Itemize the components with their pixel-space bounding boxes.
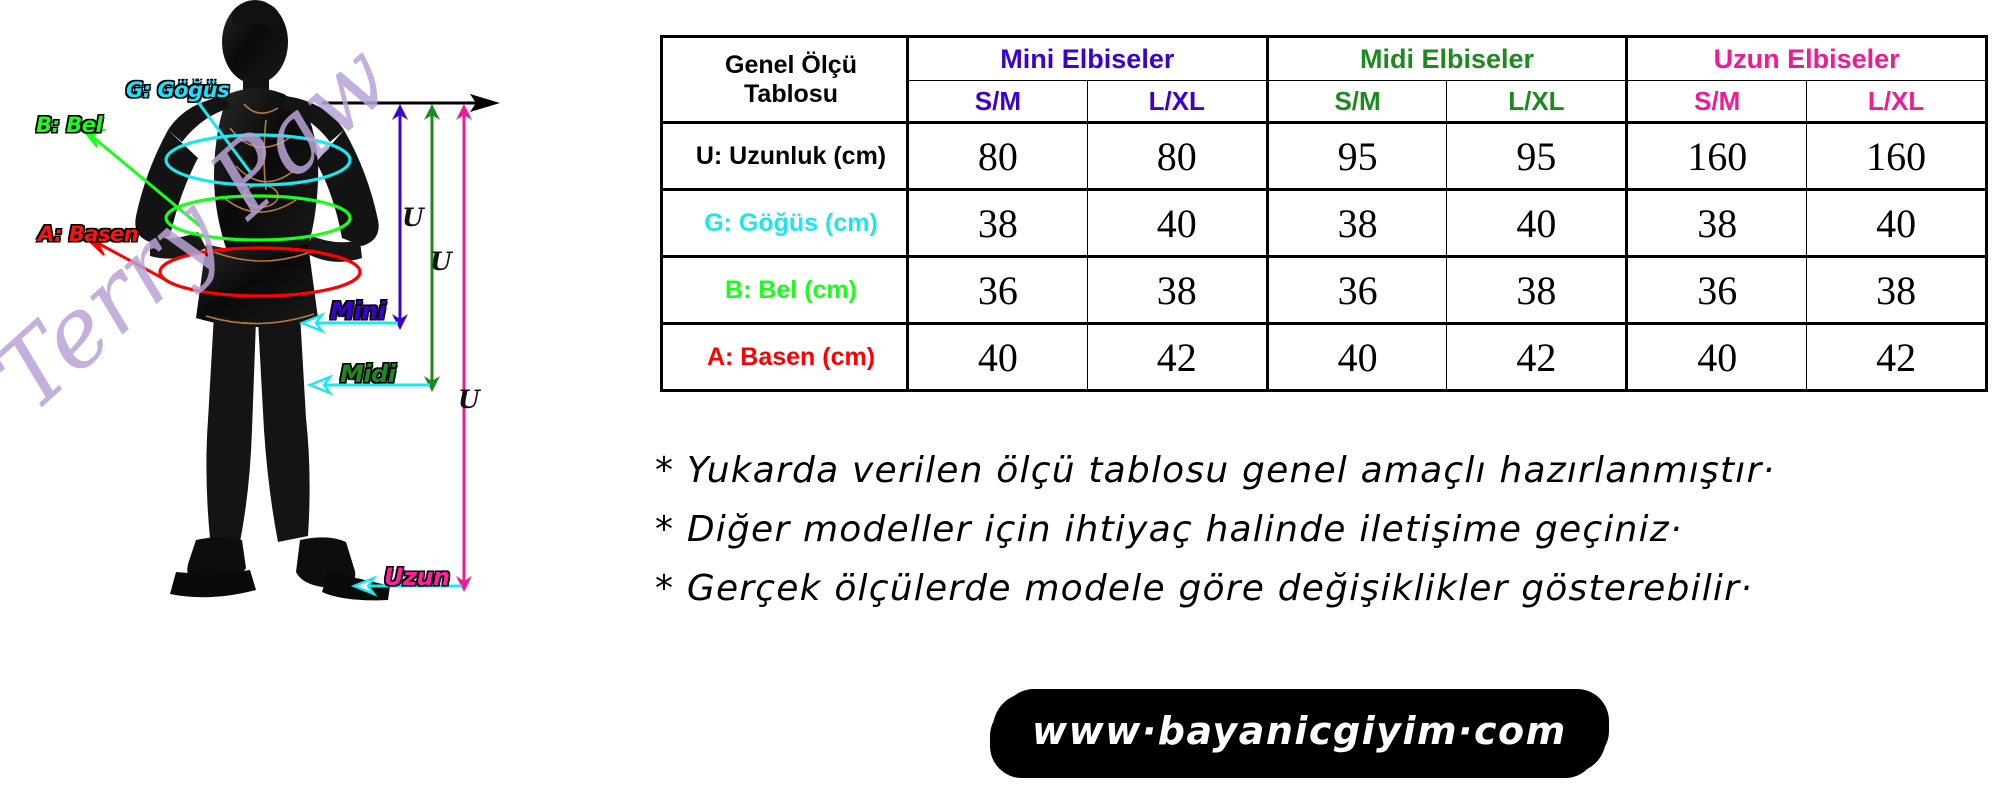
note-item: * Yukarda verilen ölçü tablosu genel ama… xyxy=(655,450,2010,491)
cell-value: 42 xyxy=(1087,324,1267,391)
cell-value: 40 xyxy=(908,324,1088,391)
row-label-gogus: G: Göğüs (cm) xyxy=(662,190,908,257)
size-header-uzun-lxl: L/XL xyxy=(1807,81,1987,123)
cell-value: 40 xyxy=(1447,190,1627,257)
size-header-mini-lxl: L/XL xyxy=(1087,81,1267,123)
note-item: * Gerçek ölçülerde modele göre değişikli… xyxy=(655,568,2010,609)
cell-value: 95 xyxy=(1267,123,1447,190)
table-header-row-groups: Genel Ölçü Tablosu Mini Elbiseler Midi E… xyxy=(662,37,1987,81)
cell-value: 38 xyxy=(908,190,1088,257)
table-row: B: Bel (cm) 36 38 36 38 36 38 xyxy=(662,257,1987,324)
cell-value: 38 xyxy=(1447,257,1627,324)
row-label-uzunluk: U: Uzunluk (cm) xyxy=(662,123,908,190)
cell-value: 40 xyxy=(1267,324,1447,391)
group-header-midi: Midi Elbiseler xyxy=(1267,37,1627,81)
table-row: G: Göğüs (cm) 38 40 38 40 38 40 xyxy=(662,190,1987,257)
size-header-midi-sm: S/M xyxy=(1267,81,1447,123)
cell-value: 80 xyxy=(908,123,1088,190)
right-panel: Genel Ölçü Tablosu Mini Elbiseler Midi E… xyxy=(660,0,2010,811)
label-midi: Midi xyxy=(340,360,396,388)
group-header-uzun: Uzun Elbiseler xyxy=(1627,37,1987,81)
notes-list: * Yukarda verilen ölçü tablosu genel ama… xyxy=(655,450,2010,627)
cell-value: 36 xyxy=(908,257,1088,324)
cell-value: 38 xyxy=(1627,190,1807,257)
cell-value: 80 xyxy=(1087,123,1267,190)
label-bel: B: Bel xyxy=(36,113,102,137)
cell-value: 160 xyxy=(1627,123,1807,190)
label-basen: A: Basen xyxy=(38,222,138,246)
u-marker-midi: U xyxy=(430,247,452,276)
cell-value: 42 xyxy=(1807,324,1987,391)
cell-value: 40 xyxy=(1087,190,1267,257)
row-label-bel: B: Bel (cm) xyxy=(662,257,908,324)
cell-value: 36 xyxy=(1627,257,1807,324)
label-uzun: Uzun xyxy=(384,563,450,591)
cell-value: 40 xyxy=(1807,190,1987,257)
size-header-mini-sm: S/M xyxy=(908,81,1088,123)
cell-value: 42 xyxy=(1447,324,1627,391)
u-marker-uzun: U xyxy=(458,385,480,414)
label-mini: Mini xyxy=(330,297,385,325)
website-banner[interactable]: www·bayanicgiyim·com xyxy=(1000,700,1599,766)
table-corner-label: Genel Ölçü Tablosu xyxy=(662,37,908,123)
size-header-midi-lxl: L/XL xyxy=(1447,81,1627,123)
size-header-uzun-sm: S/M xyxy=(1627,81,1807,123)
cell-value: 38 xyxy=(1807,257,1987,324)
table-row: A: Basen (cm) 40 42 40 42 40 42 xyxy=(662,324,1987,391)
cell-value: 36 xyxy=(1267,257,1447,324)
row-label-basen: A: Basen (cm) xyxy=(662,324,908,391)
table-row: U: Uzunluk (cm) 80 80 95 95 160 160 xyxy=(662,123,1987,190)
cell-value: 40 xyxy=(1627,324,1807,391)
note-item: * Diğer modeller için ihtiyaç halinde il… xyxy=(655,509,2010,550)
label-gogus: G: Göğüs xyxy=(126,78,229,102)
measurement-table: Genel Ölçü Tablosu Mini Elbiseler Midi E… xyxy=(660,35,1988,392)
group-header-mini: Mini Elbiseler xyxy=(908,37,1268,81)
cell-value: 38 xyxy=(1267,190,1447,257)
size-chart-page: Terry Paw G: Göğüs B: Bel A: Basen Mini … xyxy=(0,0,2010,811)
model-diagram-panel: Terry Paw G: Göğüs B: Bel A: Basen Mini … xyxy=(0,0,660,811)
cell-value: 38 xyxy=(1087,257,1267,324)
u-marker-mini: U xyxy=(402,203,424,232)
website-url[interactable]: www·bayanicgiyim·com xyxy=(1000,700,1599,766)
cell-value: 95 xyxy=(1447,123,1627,190)
cell-value: 160 xyxy=(1807,123,1987,190)
